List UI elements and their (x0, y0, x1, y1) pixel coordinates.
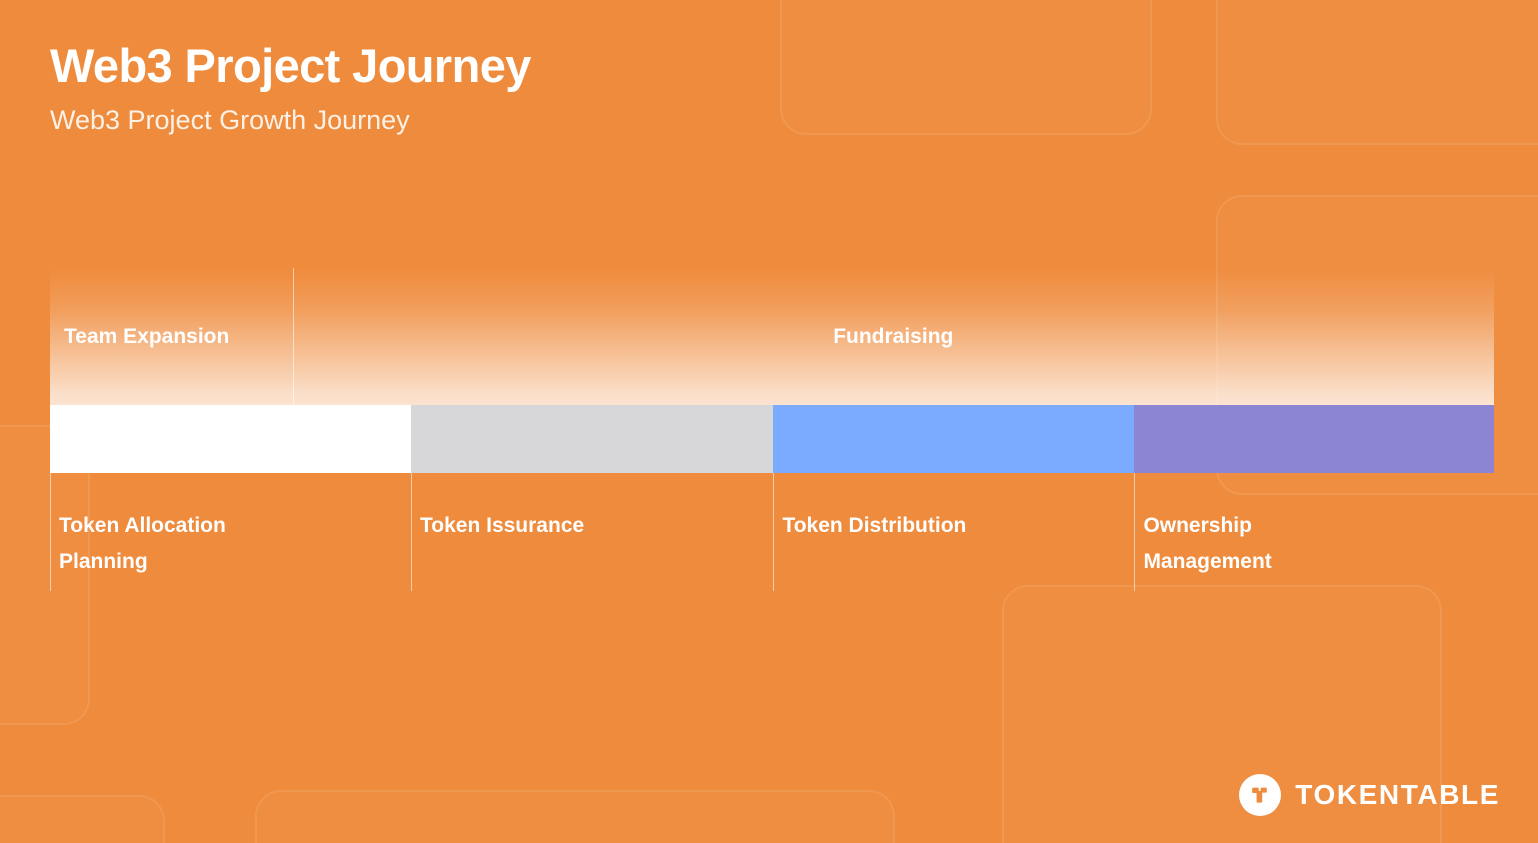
decor-rect-6 (0, 795, 165, 843)
stage-cell: Token Allocation Planning (50, 473, 411, 591)
journey-chart: Team ExpansionFundraising Token Allocati… (50, 268, 1494, 591)
segment-0[interactable] (50, 405, 411, 473)
phase-label: Fundraising (833, 325, 953, 349)
stage-cell: Ownership Management (1134, 473, 1494, 591)
phase-label: Team Expansion (50, 325, 229, 349)
stage-cell: Token Issurance (411, 473, 773, 591)
stage-label: Token Allocation Planning (50, 508, 280, 580)
phase-cell: Fundraising (293, 268, 1494, 405)
phase-band: Team ExpansionFundraising (50, 268, 1494, 405)
stage-label: Ownership Management (1134, 508, 1364, 580)
decor-rect-5 (255, 790, 895, 843)
segment-1[interactable] (411, 405, 773, 473)
page-subtitle: Web3 Project Growth Journey (50, 104, 531, 136)
segment-3[interactable] (1134, 405, 1494, 473)
segment-bar (50, 405, 1494, 473)
page-title: Web3 Project Journey (50, 38, 531, 93)
decor-rect-0 (780, 0, 1152, 135)
segment-2[interactable] (773, 405, 1134, 473)
tokentable-t-logo-icon (1239, 774, 1281, 816)
decor-rect-1 (1216, 0, 1538, 145)
brand-name: TOKENTABLE (1295, 779, 1500, 811)
stage-label: Token Distribution (773, 508, 1003, 544)
header: Web3 Project Journey Web3 Project Growth… (50, 38, 531, 137)
stage-cell: Token Distribution (773, 473, 1134, 591)
phase-cell: Team Expansion (50, 268, 293, 405)
stage-labels: Token Allocation PlanningToken Issurance… (50, 473, 1494, 591)
brand-logo: TOKENTABLE (1239, 774, 1500, 816)
stage-label: Token Issurance (411, 508, 641, 544)
